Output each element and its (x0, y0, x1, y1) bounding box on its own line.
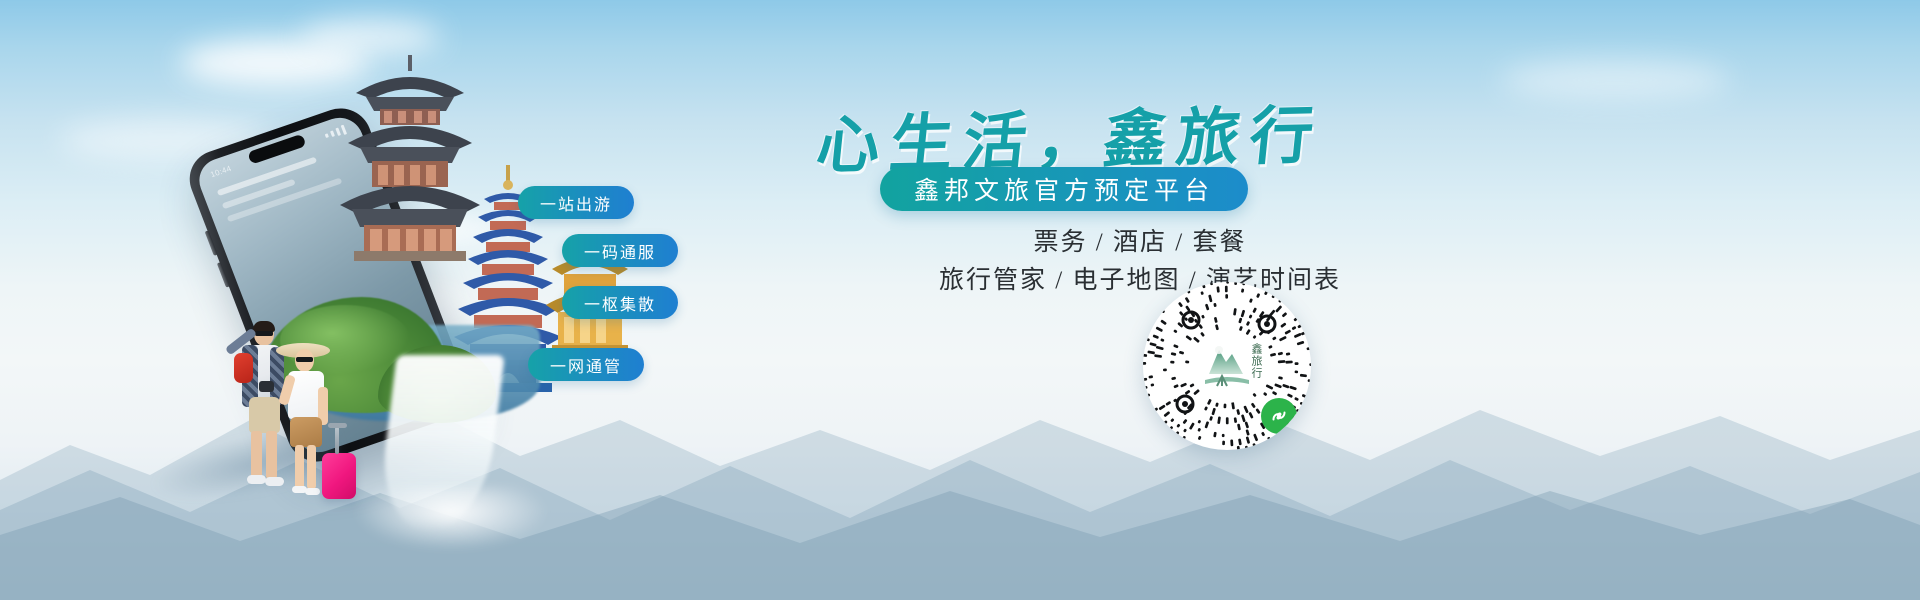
promo-banner: 10:44 (0, 0, 1920, 600)
feature-pill-label: 一枢集散 (584, 291, 656, 315)
male-leg (251, 431, 262, 479)
headline-comma: ， (1033, 105, 1107, 176)
red-backpack (234, 353, 253, 383)
wechat-mini-program-icon (1261, 398, 1297, 434)
pink-suitcase (322, 453, 356, 499)
service-line-1: 票务 / 酒店 / 套餐 (800, 222, 1480, 258)
camera (259, 381, 274, 392)
male-leg (266, 431, 277, 479)
feature-pill-label: 一站出游 (540, 191, 612, 215)
service-line-2: 旅行管家 / 电子地图 / 演艺时间表 (800, 260, 1480, 296)
qr-center-logo: 鑫旅行 (1190, 329, 1264, 403)
phone-status-time: 10:44 (209, 164, 233, 179)
cloud-decoration (1500, 60, 1730, 100)
feature-pill-label: 一网通管 (550, 353, 622, 377)
headline-part-2: 鑫旅行 (1100, 101, 1327, 176)
female-shorts (290, 417, 322, 447)
feature-pill-2[interactable]: 一码通服 (562, 234, 678, 267)
female-leg (295, 445, 304, 489)
traveller-couple (180, 305, 360, 525)
male-sunglasses (255, 331, 273, 336)
platform-badge: 鑫邦文旅官方预定平台 (880, 167, 1248, 211)
waterfall-spray (356, 487, 546, 549)
feature-pill-3[interactable]: 一枢集散 (562, 286, 678, 319)
male-shoe (247, 475, 266, 484)
female-shoe (305, 488, 320, 495)
female-leg (307, 445, 316, 489)
feature-pill-label: 一码通服 (584, 239, 656, 263)
female-sunglasses (296, 357, 313, 362)
platform-badge-label: 鑫邦文旅官方预定平台 (914, 171, 1214, 207)
feature-pill-1[interactable]: 一站出游 (518, 186, 634, 219)
qr-brand-text: 鑫旅行 (1249, 343, 1261, 379)
feature-pill-4[interactable]: 一网通管 (528, 348, 644, 381)
wechat-miniprogram-qr[interactable]: 鑫旅行 (1143, 282, 1311, 450)
mini-program-glyph (1268, 405, 1290, 427)
male-shorts (249, 397, 280, 433)
